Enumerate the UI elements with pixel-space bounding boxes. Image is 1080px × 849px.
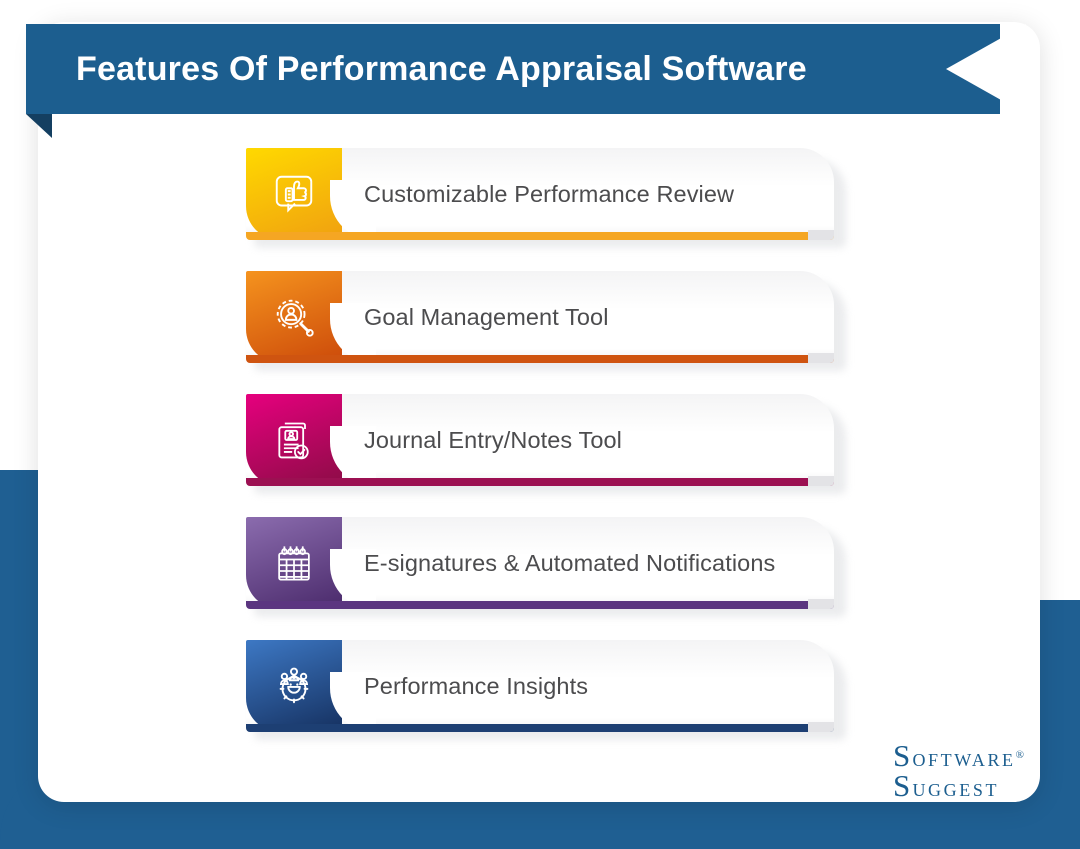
magnifier-person-icon [268,291,320,343]
brand-word2-cap: S [893,772,912,800]
brand-word2-rest: UGGEST [912,781,999,799]
brand-word1-cap: S [893,742,912,770]
feature-label: Customizable Performance Review [364,148,814,240]
feature-card[interactable]: Goal Management Tool [246,271,834,363]
feature-card[interactable]: Journal Entry/Notes Tool [246,394,834,486]
feature-card[interactable]: Customizable Performance Review [246,148,834,240]
header-ribbon: Features Of Performance Appraisal Softwa… [26,24,1026,134]
feature-item[interactable]: Goal Management Tool [246,271,846,371]
calendar-notepad-icon [268,537,320,589]
feature-list: Customizable Performance Review [246,148,866,763]
feature-label: E-signatures & Automated Notifications [364,517,814,609]
team-gear-icon [268,660,320,712]
feature-card[interactable]: E-signatures & Automated Notifications [246,517,834,609]
feature-label: Journal Entry/Notes Tool [364,394,814,486]
brand-word1-rest: OFTWARE [912,751,1015,769]
feature-card[interactable]: Performance Insights [246,640,834,732]
brand-logo: S OFTWARE ® S UGGEST [893,742,1024,800]
feature-label: Goal Management Tool [364,271,814,363]
feature-label: Performance Insights [364,640,814,732]
document-check-icon [268,414,320,466]
feature-item[interactable]: Performance Insights [246,640,846,740]
registered-icon: ® [1016,750,1024,761]
feature-item[interactable]: Journal Entry/Notes Tool [246,394,846,494]
feature-item[interactable]: Customizable Performance Review [246,148,846,248]
page-title: Features Of Performance Appraisal Softwa… [76,24,807,114]
feature-item[interactable]: E-signatures & Automated Notifications [246,517,846,617]
infographic-canvas: Features Of Performance Appraisal Softwa… [0,0,1080,849]
thumbs-up-review-icon [268,168,320,220]
